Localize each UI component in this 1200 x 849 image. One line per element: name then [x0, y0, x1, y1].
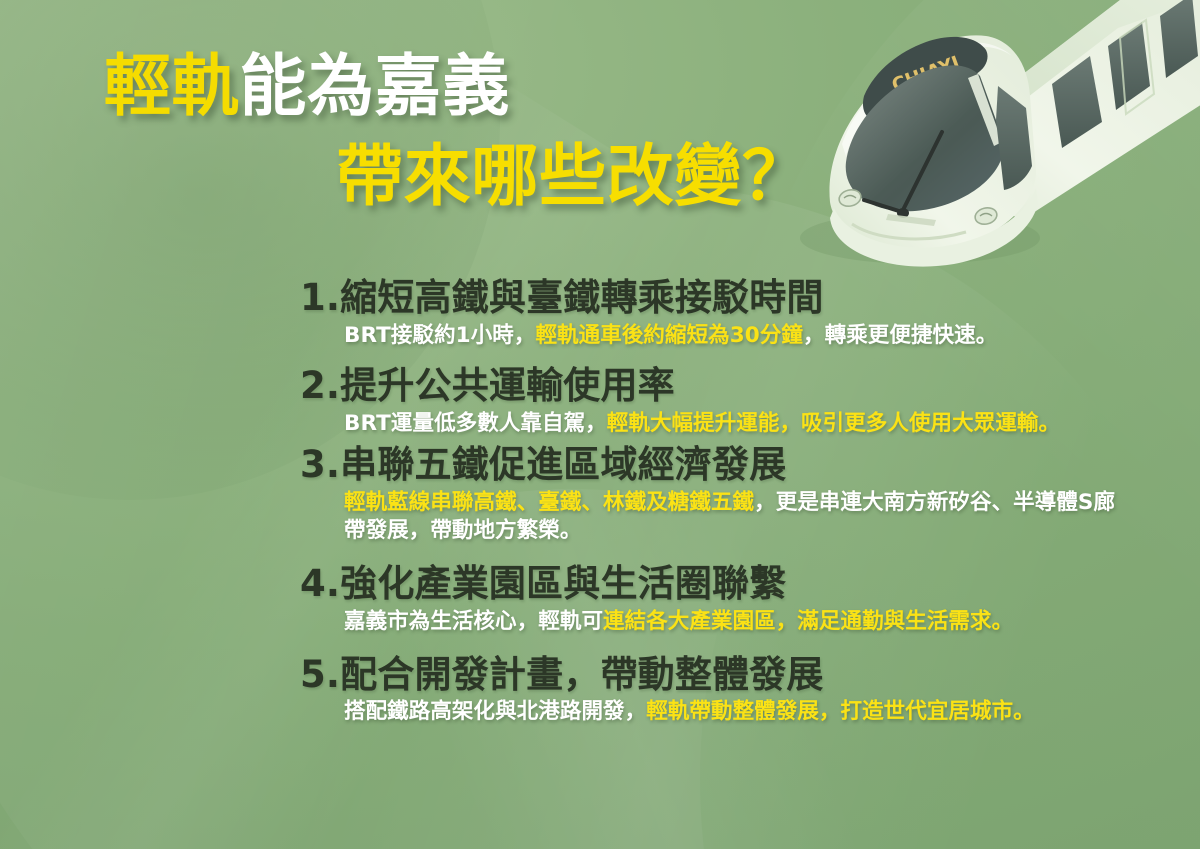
list-item-title: 提升公共運輸使用率 — [340, 364, 675, 408]
poster-title: 輕軌能為嘉義 帶來哪些改變？ — [0, 52, 880, 211]
train-side-windows — [1052, 0, 1200, 148]
list-item-heading: 1. 縮短高鐵與臺鐵轉乘接駁時間 — [300, 276, 1130, 320]
desc-part-highlight: 輕軌藍線串聯高鐵、臺鐵、林鐵及糖鐵五鐵 — [344, 490, 754, 515]
desc-part-plain: 嘉義市為生活核心，輕軌可 — [344, 609, 603, 634]
list-item-number: 4. — [300, 562, 340, 606]
title-highlight-text: 輕軌 — [104, 47, 239, 125]
desc-part-highlight: 輕軌大幅提升運能，吸引更多人使用大眾運輸。 — [607, 411, 1060, 436]
list-item-title: 串聯五鐵促進區域經濟發展 — [340, 443, 786, 487]
list-item-heading: 3. 串聯五鐵促進區域經濟發展 — [300, 443, 1130, 487]
list-item: 5. 配合開發計畫，帶動整體發展 搭配鐵路高架化與北港路開發，輕軌帶動整體發展，… — [300, 653, 1130, 727]
train-destination-display: CHIAYI — [863, 37, 988, 120]
desc-part-highlight: 輕軌通車後約縮短為30分鐘 — [535, 323, 803, 348]
desc-part-plain: BRT運量低多數人靠自駕， — [344, 411, 607, 436]
desc-part-plain: 搭配鐵路高架化與北港路開發， — [344, 699, 646, 724]
list-item-title: 配合開發計畫，帶動整體發展 — [340, 653, 823, 697]
list-item-description: 嘉義市為生活核心，輕軌可連結各大產業園區，滿足通勤與生活需求。 — [344, 608, 1130, 637]
benefits-list: 1. 縮短高鐵與臺鐵轉乘接駁時間 BRT接駁約1小時，輕軌通車後約縮短為30分鐘… — [300, 276, 1130, 729]
list-item-title: 縮短高鐵與臺鐵轉乘接駁時間 — [340, 276, 823, 320]
desc-part-highlight: 連結各大產業園區，滿足通勤與生活需求。 — [603, 609, 1013, 634]
list-item: 4. 強化產業園區與生活圈聯繫 嘉義市為生活核心，輕軌可連結各大產業園區，滿足通… — [300, 562, 1130, 636]
list-item-number: 5. — [300, 653, 340, 697]
list-item-number: 3. — [300, 443, 340, 487]
desc-part-highlight: 輕軌帶動整體發展，打造世代宜居城市。 — [646, 699, 1035, 724]
list-item-description: 輕軌藍線串聯高鐵、臺鐵、林鐵及糖鐵五鐵，更是串連大南方新矽谷、半導體S廊帶發展，… — [344, 489, 1130, 547]
list-item: 2. 提升公共運輸使用率 BRT運量低多數人靠自駕，輕軌大幅提升運能，吸引更多人… — [300, 364, 1130, 438]
list-item-heading: 5. 配合開發計畫，帶動整體發展 — [300, 653, 1130, 697]
list-item-description: 搭配鐵路高架化與北港路開發，輕軌帶動整體發展，打造世代宜居城市。 — [344, 698, 1130, 727]
list-item: 3. 串聯五鐵促進區域經濟發展 輕軌藍線串聯高鐵、臺鐵、林鐵及糖鐵五鐵，更是串連… — [300, 443, 1130, 546]
destination-text: CHIAYI — [889, 52, 963, 97]
list-item-heading: 4. 強化產業園區與生活圈聯繫 — [300, 562, 1130, 606]
list-item-title: 強化產業園區與生活圈聯繫 — [340, 562, 786, 606]
list-item: 1. 縮短高鐵與臺鐵轉乘接駁時間 BRT接駁約1小時，輕軌通車後約縮短為30分鐘… — [300, 276, 1130, 350]
list-item-description: BRT運量低多數人靠自駕，輕軌大幅提升運能，吸引更多人使用大眾運輸。 — [344, 410, 1130, 439]
list-item-number: 2. — [300, 364, 340, 408]
list-item-description: BRT接駁約1小時，輕軌通車後約縮短為30分鐘，轉乘更便捷快速。 — [344, 322, 1130, 351]
list-item-number: 1. — [300, 276, 340, 320]
desc-part-plain: BRT接駁約1小時， — [344, 323, 535, 348]
title-rest-text: 能為嘉義 — [239, 47, 510, 125]
title-line-2: 帶來哪些改變？ — [0, 142, 880, 210]
desc-part-plain: ，轉乘更便捷快速。 — [803, 323, 997, 348]
list-item-heading: 2. 提升公共運輸使用率 — [300, 364, 1130, 408]
infographic-poster: CHIAYI — [0, 0, 1200, 849]
title-line-1: 輕軌能為嘉義 — [0, 52, 880, 120]
